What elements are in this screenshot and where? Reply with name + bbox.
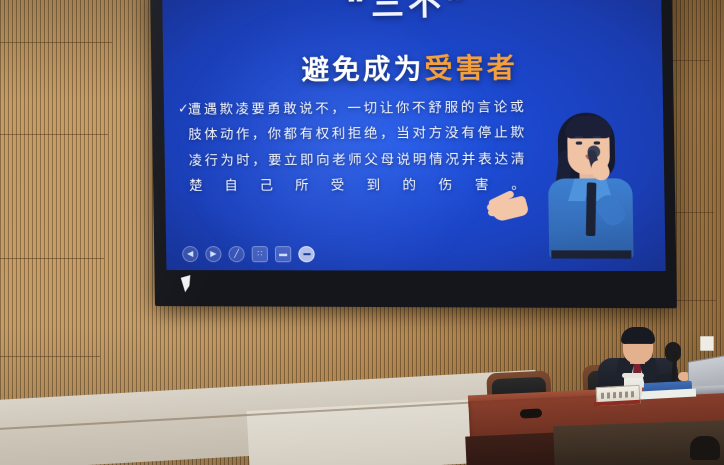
wall-seam bbox=[0, 134, 108, 135]
projection-screen: “三不” 避免成为受害者 ✓ 遭遇欺凌要勇敢说不，一切让你不舒服的言论或肢体动作… bbox=[150, 0, 677, 308]
all-slides-grid-button[interactable]: ∷ bbox=[252, 246, 268, 262]
slide-vignette bbox=[162, 0, 665, 271]
presentation-slide: “三不” 避免成为受害者 ✓ 遭遇欺凌要勇敢说不，一切让你不舒服的言论或肢体动作… bbox=[162, 0, 665, 271]
more-options-icon bbox=[303, 253, 310, 255]
wall-seam bbox=[0, 258, 104, 259]
previous-slide-button[interactable]: ◀ bbox=[182, 246, 198, 262]
powerpoint-presenter-toolbar[interactable]: ◀ ▶ ╱ ∷ ▬ bbox=[178, 244, 319, 264]
wall-socket bbox=[700, 336, 714, 351]
paper-cup-lid bbox=[622, 373, 644, 378]
wall-seam bbox=[0, 42, 112, 43]
pen-tool-button[interactable]: ╱ bbox=[228, 246, 244, 262]
floor-object bbox=[690, 436, 720, 460]
desk-object bbox=[520, 408, 542, 418]
glasses-icon bbox=[626, 343, 650, 349]
wall-seam bbox=[0, 356, 100, 357]
nameplate-text bbox=[601, 391, 635, 399]
more-options-button[interactable] bbox=[298, 246, 315, 262]
speaker-hair bbox=[621, 327, 655, 344]
next-slide-button[interactable]: ▶ bbox=[205, 246, 221, 262]
screenshot-root: “三不” 避免成为受害者 ✓ 遭遇欺凌要勇敢说不，一切让你不舒服的言论或肢体动作… bbox=[0, 0, 724, 465]
zoom-region-button[interactable]: ▬ bbox=[275, 246, 291, 262]
